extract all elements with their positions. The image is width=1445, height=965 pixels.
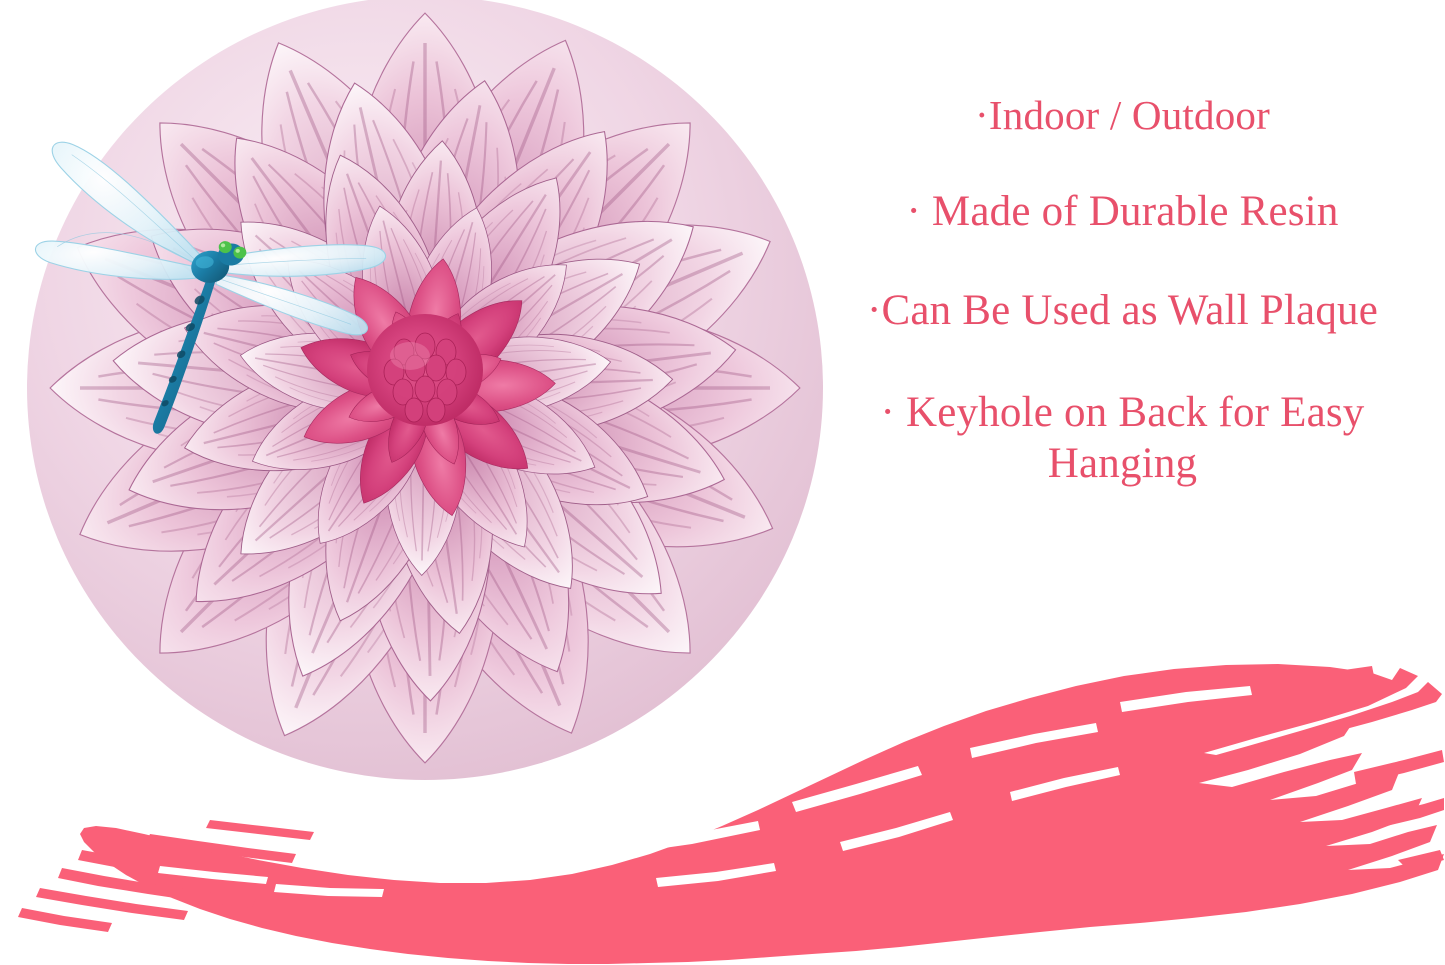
feature-item-indoor-outdoor: ·Indoor / Outdoor <box>810 92 1435 139</box>
feature-list: ·Indoor / Outdoor · Made of Durable Resi… <box>810 92 1435 489</box>
feature-item-durable-resin: · Made of Durable Resin <box>810 187 1435 236</box>
feature-item-keyhole-hanging: · Keyhole on Back for Easy Hanging <box>810 387 1435 489</box>
flower-center <box>367 314 483 426</box>
product-feature-banner: ·Indoor / Outdoor · Made of Durable Resi… <box>0 0 1445 965</box>
brush-stroke-main <box>80 664 1444 964</box>
feature-item-wall-plaque: ·Can Be Used as Wall Plaque <box>810 286 1435 335</box>
pink-brush-stroke-banner <box>0 620 1445 965</box>
